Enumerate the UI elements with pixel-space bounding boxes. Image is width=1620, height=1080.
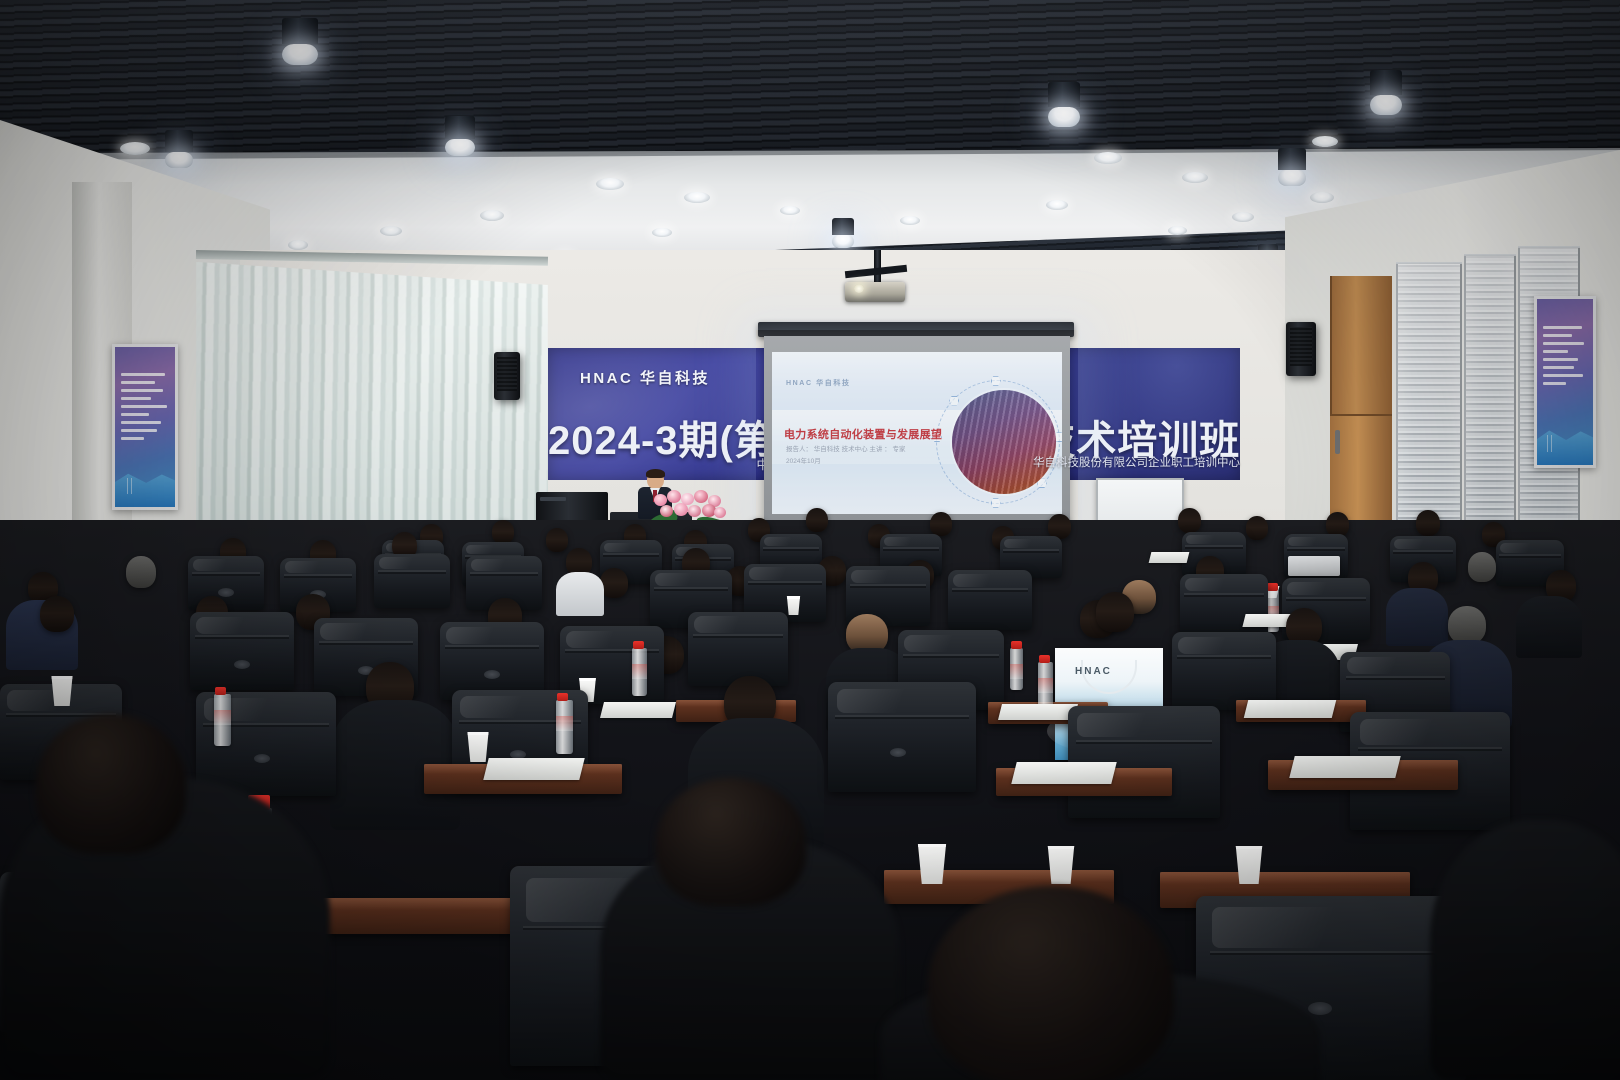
right-wall-poster — [1534, 296, 1596, 468]
attendee-head — [1246, 516, 1268, 540]
cylinder-downlight-3 — [165, 130, 193, 166]
laptop[interactable] — [1288, 556, 1340, 576]
slide-title: 电力系统自动化装置与发展展望 — [784, 426, 964, 442]
hex-node-icon-4 — [991, 498, 1001, 508]
attendee-head — [930, 512, 952, 536]
cylinder-downlight-2 — [445, 116, 475, 154]
slide-hero-image — [952, 390, 1056, 494]
handout-paper[interactable] — [600, 702, 676, 718]
recessed-light-2 — [1094, 152, 1122, 164]
venetian-blind-2[interactable] — [1464, 256, 1516, 562]
foreground-attendee-head — [928, 886, 1174, 1080]
recessed-light-20 — [1168, 226, 1187, 235]
projection-screen-housing — [758, 322, 1074, 337]
seat[interactable] — [374, 554, 450, 608]
recessed-light-3 — [1182, 172, 1208, 183]
left-wall-poster — [112, 344, 178, 510]
foreground-attendee-head — [656, 778, 806, 906]
slide-logo: HNAC 华自科技 — [786, 378, 851, 388]
attendee-head — [546, 528, 568, 552]
banner-subtitle-right: 华自科技股份有限公司企业职工培训中心 — [1010, 454, 1240, 470]
wall-speaker-right — [1286, 322, 1316, 376]
foreground-attendee-shoulders — [1430, 820, 1620, 1080]
handout-paper[interactable] — [1244, 700, 1336, 718]
recessed-light-7 — [288, 240, 308, 250]
flower-7 — [674, 503, 688, 516]
handout-paper[interactable] — [1011, 762, 1116, 784]
cylinder-downlight-7 — [832, 218, 854, 246]
flower-10 — [714, 507, 726, 518]
flower-2 — [667, 490, 681, 503]
attendee-head — [1416, 510, 1440, 536]
attendee-head — [1178, 508, 1201, 533]
cylinder-downlight-6 — [1278, 148, 1306, 184]
attendee-head — [1468, 552, 1496, 582]
handout-paper[interactable] — [1289, 756, 1400, 778]
attendee-torso — [1516, 596, 1582, 658]
seat[interactable] — [440, 622, 544, 700]
recessed-light-18 — [900, 216, 920, 225]
door-handle[interactable] — [1335, 430, 1340, 454]
presenter-hair — [646, 469, 665, 478]
handout-paper[interactable] — [1149, 552, 1190, 563]
flower-4 — [694, 490, 708, 503]
attendee-head — [126, 556, 156, 588]
slide-presenter-line: 报告人： 华自科技 技术中心 主讲 ： 专家 — [786, 444, 906, 455]
water-bottle[interactable] — [556, 700, 573, 754]
attendee-head — [1096, 592, 1134, 632]
attendee-torso — [1386, 588, 1448, 646]
attendee-torso — [556, 572, 604, 616]
recessed-light-6 — [380, 226, 402, 236]
seat[interactable] — [948, 570, 1032, 630]
recessed-light-17 — [1046, 200, 1068, 210]
conference-room-photo: HNAC 华自科技 2024-3期(第二期)水电控制技术培训班 中国水力发电工程… — [0, 0, 1620, 1080]
recessed-light-19 — [1312, 136, 1338, 147]
projector-lens-icon — [854, 284, 864, 293]
wall-speaker-left — [494, 352, 520, 400]
poster-ecg-line-left — [120, 478, 170, 494]
banner-logo: HNAC 华自科技 — [580, 367, 710, 388]
attendee-head — [806, 508, 828, 532]
flower-6 — [660, 505, 673, 517]
seat[interactable] — [688, 612, 788, 686]
flower-8 — [688, 505, 701, 517]
poster-ecg-line-right — [1541, 435, 1588, 452]
recessed-light-10 — [652, 228, 672, 237]
cylinder-downlight-5 — [1370, 70, 1402, 112]
recessed-light-1 — [596, 178, 624, 190]
poster-text-lines-right — [1543, 326, 1588, 390]
handout-paper[interactable] — [483, 758, 584, 780]
foreground-attendee-head — [36, 714, 186, 854]
hex-node-icon-1 — [991, 376, 1001, 386]
recessed-light-8 — [120, 142, 150, 155]
attendee-head — [1448, 606, 1486, 644]
cylinder-downlight-4 — [1048, 82, 1080, 124]
recessed-light-5 — [480, 210, 504, 221]
seat[interactable] — [828, 682, 976, 792]
poster-text-lines-left — [121, 373, 169, 445]
seat[interactable] — [190, 612, 294, 690]
presentation-slide: HNAC 华自科技 电力系统自动化装置与发展展望 报告人： 华自科技 技术中心 … — [772, 352, 1062, 514]
recessed-light-12 — [1232, 212, 1254, 222]
bag-logo: HNAC — [1075, 666, 1112, 677]
attendee-head — [492, 520, 514, 544]
cylinder-downlight-1 — [282, 18, 318, 62]
water-bottle[interactable] — [214, 694, 231, 746]
recessed-light-4 — [684, 192, 710, 203]
water-bottle[interactable] — [1010, 648, 1023, 690]
water-bottle[interactable] — [1038, 662, 1053, 710]
attendee-head — [40, 596, 74, 632]
water-bottle[interactable] — [632, 648, 647, 696]
seat[interactable] — [1172, 632, 1276, 710]
recessed-light-13 — [1310, 192, 1334, 203]
slide-date-line: 2024年10月 — [786, 456, 821, 467]
recessed-light-21 — [780, 206, 800, 215]
attendee-head — [600, 568, 628, 598]
handout-paper[interactable] — [998, 704, 1078, 720]
